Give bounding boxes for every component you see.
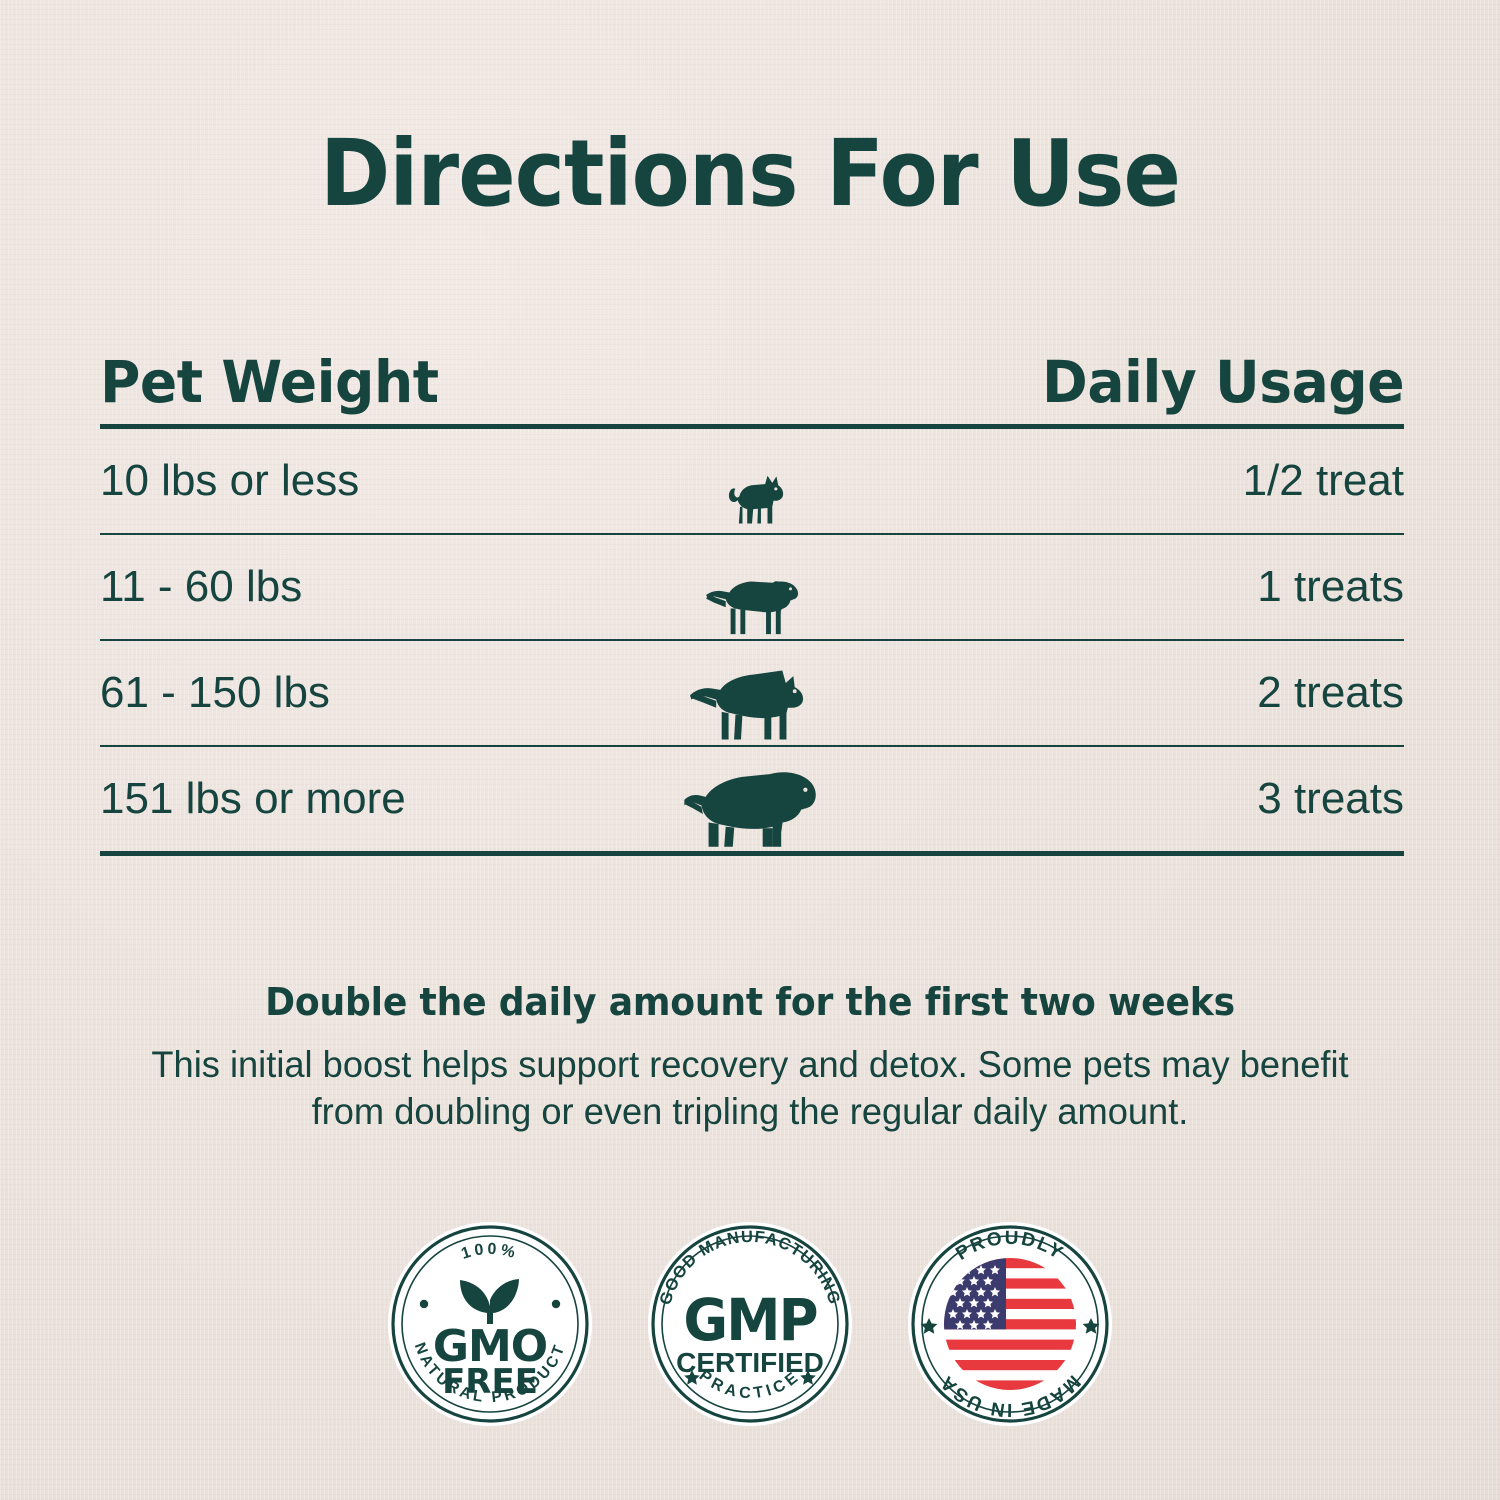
usa-flag-icon [944, 1258, 1076, 1391]
small-dog-icon [716, 429, 788, 533]
dot-left-icon [420, 1300, 428, 1308]
callout-heading: Double the daily amount for the first tw… [38, 980, 1463, 1024]
callout: Double the daily amount for the first tw… [0, 980, 1500, 1136]
giant-dog-icon [682, 747, 822, 851]
callout-body: This initial boost helps support recover… [118, 1042, 1382, 1136]
column-header-pet-weight: Pet Weight [100, 348, 439, 416]
column-header-daily-usage: Daily Usage [1042, 348, 1404, 416]
cell-daily-usage: 1 treats [1257, 562, 1404, 612]
cell-daily-usage: 1/2 treat [1243, 456, 1404, 506]
cell-pet-weight: 61 - 150 lbs [100, 668, 330, 718]
gmo-free-badge: 100% GMO FREE NATURAL PRODUCT [384, 1218, 596, 1430]
table-bottom-rule [100, 851, 1404, 856]
gmp-main-line-1: GMP [683, 1287, 816, 1354]
table-row: 151 lbs or more 3 treats [100, 747, 1404, 851]
made-in-usa-badge: PROUDLY MADE IN USA [904, 1218, 1116, 1430]
page-title: Directions For Use [60, 126, 1440, 223]
table-row: 10 lbs or less 1/2 treat [100, 429, 1404, 533]
table-header-row: Pet Weight Daily Usage [100, 348, 1404, 424]
cell-pet-weight: 10 lbs or less [100, 456, 359, 506]
cell-pet-weight: 151 lbs or more [100, 774, 406, 824]
table-row: 11 - 60 lbs 1 treats [100, 535, 1404, 639]
gmp-certified-badge: GOOD MANUFACTURING GMP CERTIFIED PRACTIC… [644, 1218, 856, 1430]
gmp-main-line-2: CERTIFIED [676, 1347, 824, 1378]
large-dog-icon [690, 641, 814, 745]
dosage-table: Pet Weight Daily Usage 10 lbs or less 1/… [100, 348, 1404, 856]
certification-badges: 100% GMO FREE NATURAL PRODUCT GOOD [0, 1218, 1500, 1430]
cell-daily-usage: 2 treats [1257, 668, 1404, 718]
cell-daily-usage: 3 treats [1257, 774, 1404, 824]
dot-right-icon [552, 1300, 560, 1308]
cell-pet-weight: 11 - 60 lbs [100, 562, 302, 612]
medium-dog-icon [700, 535, 804, 639]
table-row: 61 - 150 lbs 2 treats [100, 641, 1404, 745]
